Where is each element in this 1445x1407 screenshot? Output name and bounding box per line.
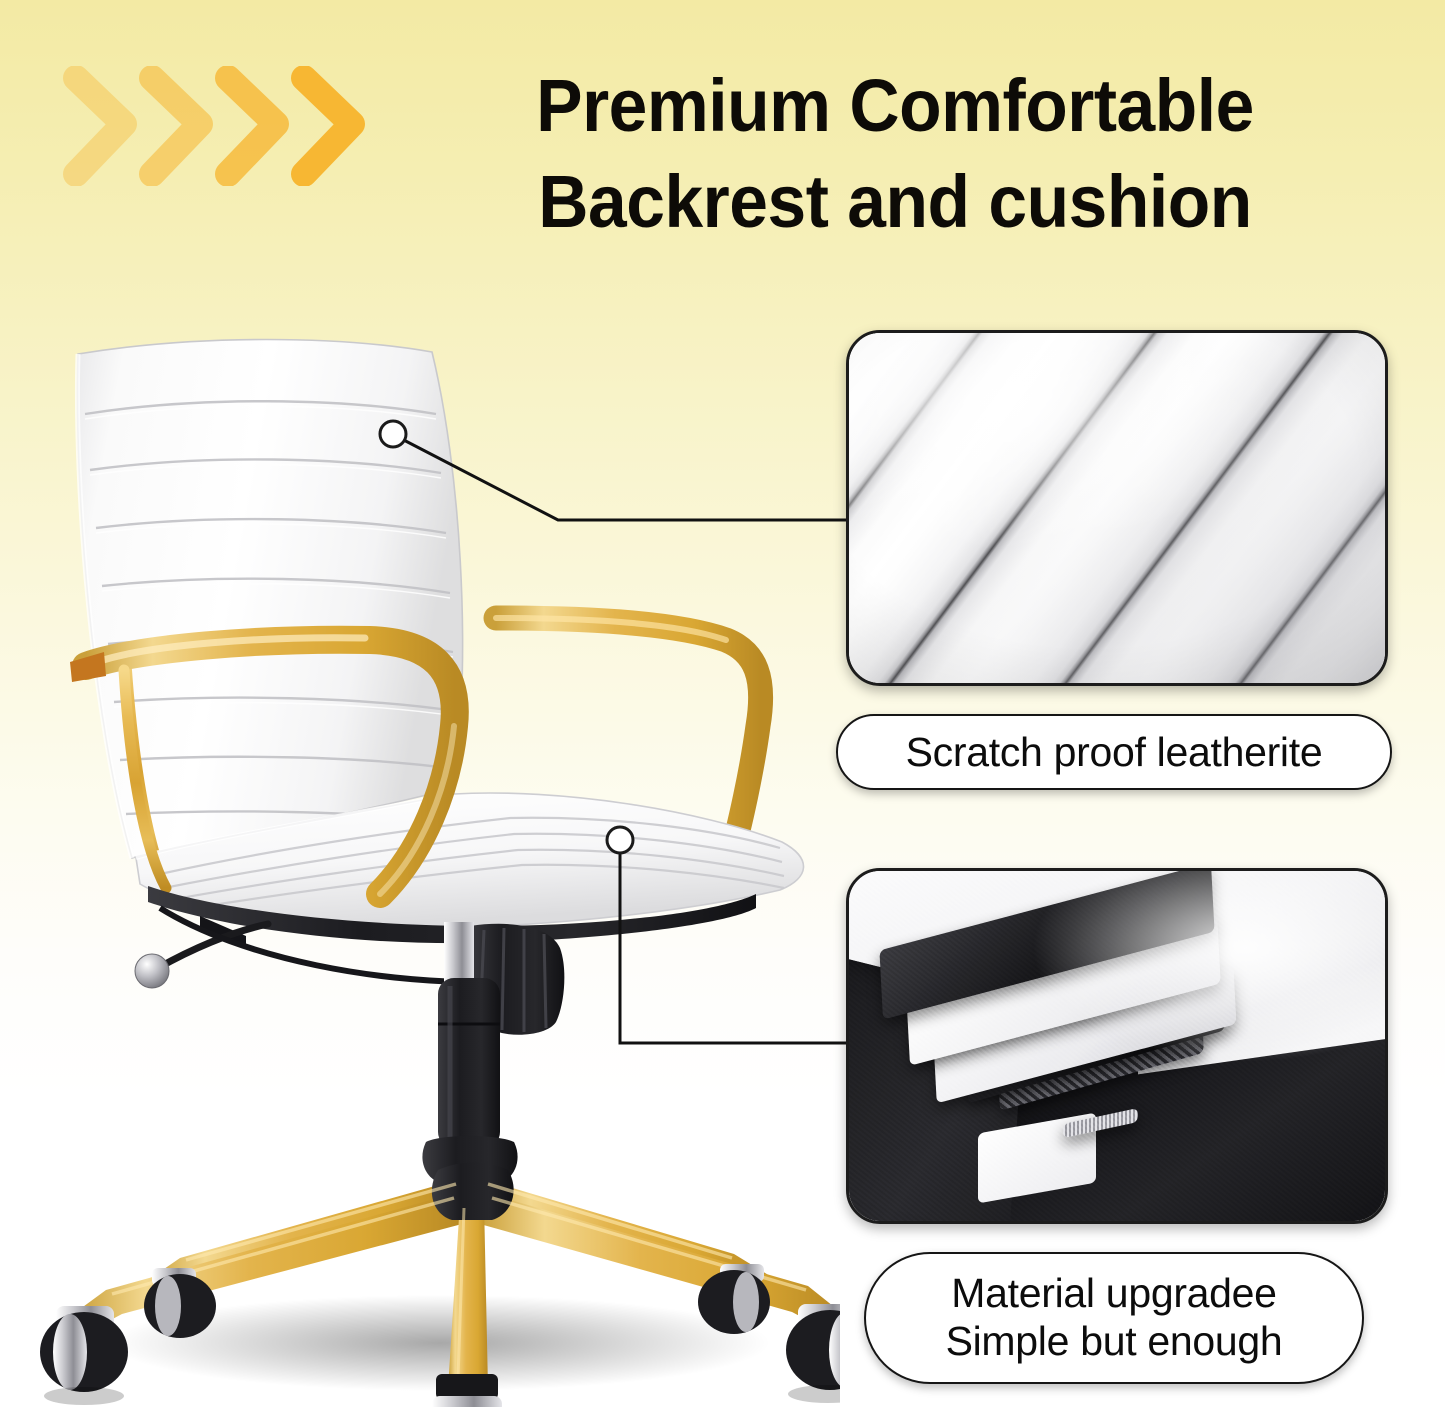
pill-text: Scratch proof leatherite xyxy=(906,729,1323,776)
office-chair-image xyxy=(40,318,840,1407)
material-glow xyxy=(849,871,1385,1221)
label-scratch-proof-leatherite: Scratch proof leatherite xyxy=(836,714,1392,790)
leatherite-closeup-photo xyxy=(846,330,1388,686)
pill-text-line-1: Material upgradee xyxy=(951,1270,1276,1318)
chevron-group xyxy=(62,66,382,186)
caster xyxy=(786,1304,840,1403)
infographic-canvas: Premium Comfortable Backrest and cushion xyxy=(0,0,1445,1407)
chevron-right-icon xyxy=(138,66,224,186)
label-material-upgrade: Material upgradee Simple but enough xyxy=(864,1252,1364,1384)
lever-knob xyxy=(135,954,169,988)
pill-text-line-2: Simple but enough xyxy=(946,1318,1283,1366)
chevron-right-icon xyxy=(290,66,376,186)
page-title: Premium Comfortable Backrest and cushion xyxy=(430,58,1361,250)
chevron-right-icon xyxy=(214,66,300,186)
chevron-right-icon xyxy=(62,66,148,186)
texture-vignette xyxy=(849,333,1385,683)
title-line-1: Premium Comfortable xyxy=(536,64,1254,147)
caster xyxy=(40,1306,128,1405)
title-line-2: Backrest and cushion xyxy=(430,154,1361,250)
material-layers-photo xyxy=(846,868,1388,1224)
